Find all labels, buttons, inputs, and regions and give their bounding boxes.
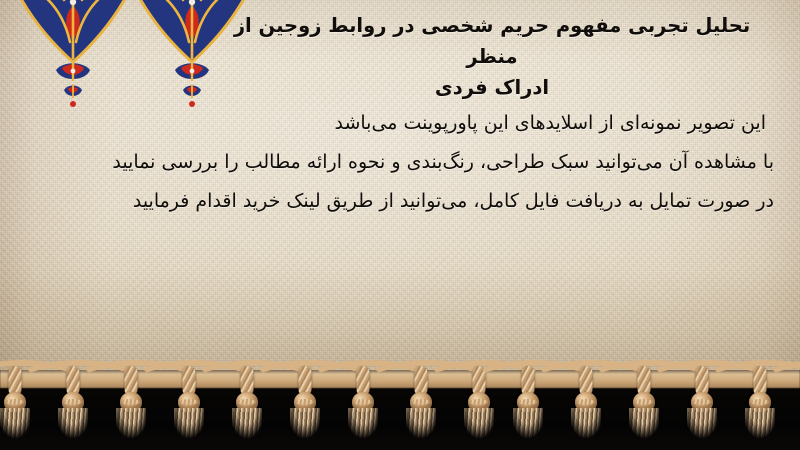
body-line-2: با مشاهده آن می‌توانید سبک طراحی، رنگ‌بن… (26, 143, 774, 182)
body-line-1: این تصویر نمونه‌ای از اسلایدهای این پاور… (26, 104, 774, 143)
tassel-skirt (290, 408, 320, 444)
persian-medallion-ornament (14, 0, 132, 108)
tassel-skirt (687, 408, 717, 444)
tassel-skirt (629, 408, 659, 444)
tassel-skirt (58, 408, 88, 444)
tassel-skirt (745, 408, 775, 444)
body-line-3: در صورت تمایل به دریافت فایل کامل، می‌تو… (26, 182, 774, 221)
knotted-tassel-fringe (0, 368, 800, 450)
tassel-skirt (571, 408, 601, 444)
slide-title-line-1: تحلیل تجربی مفهوم حریم شخصی در روابط زوج… (212, 10, 772, 72)
slide-title-line-2: ادراک فردی (212, 72, 772, 103)
tassel-skirt (232, 408, 262, 444)
slide-body: این تصویر نمونه‌ای از اسلایدهای این پاور… (26, 104, 774, 221)
tassel-skirt (464, 408, 494, 444)
tassel-skirt (0, 408, 30, 444)
tassel-skirt (116, 408, 146, 444)
tassel-skirt (174, 408, 204, 444)
slide-title: تحلیل تجربی مفهوم حریم شخصی در روابط زوج… (212, 10, 772, 103)
tassel (787, 368, 800, 448)
slide-canvas: تحلیل تجربی مفهوم حریم شخصی در روابط زوج… (0, 0, 800, 450)
tassel-skirt (406, 408, 436, 444)
tassel-skirt (513, 408, 543, 444)
tassel-skirt (348, 408, 378, 444)
